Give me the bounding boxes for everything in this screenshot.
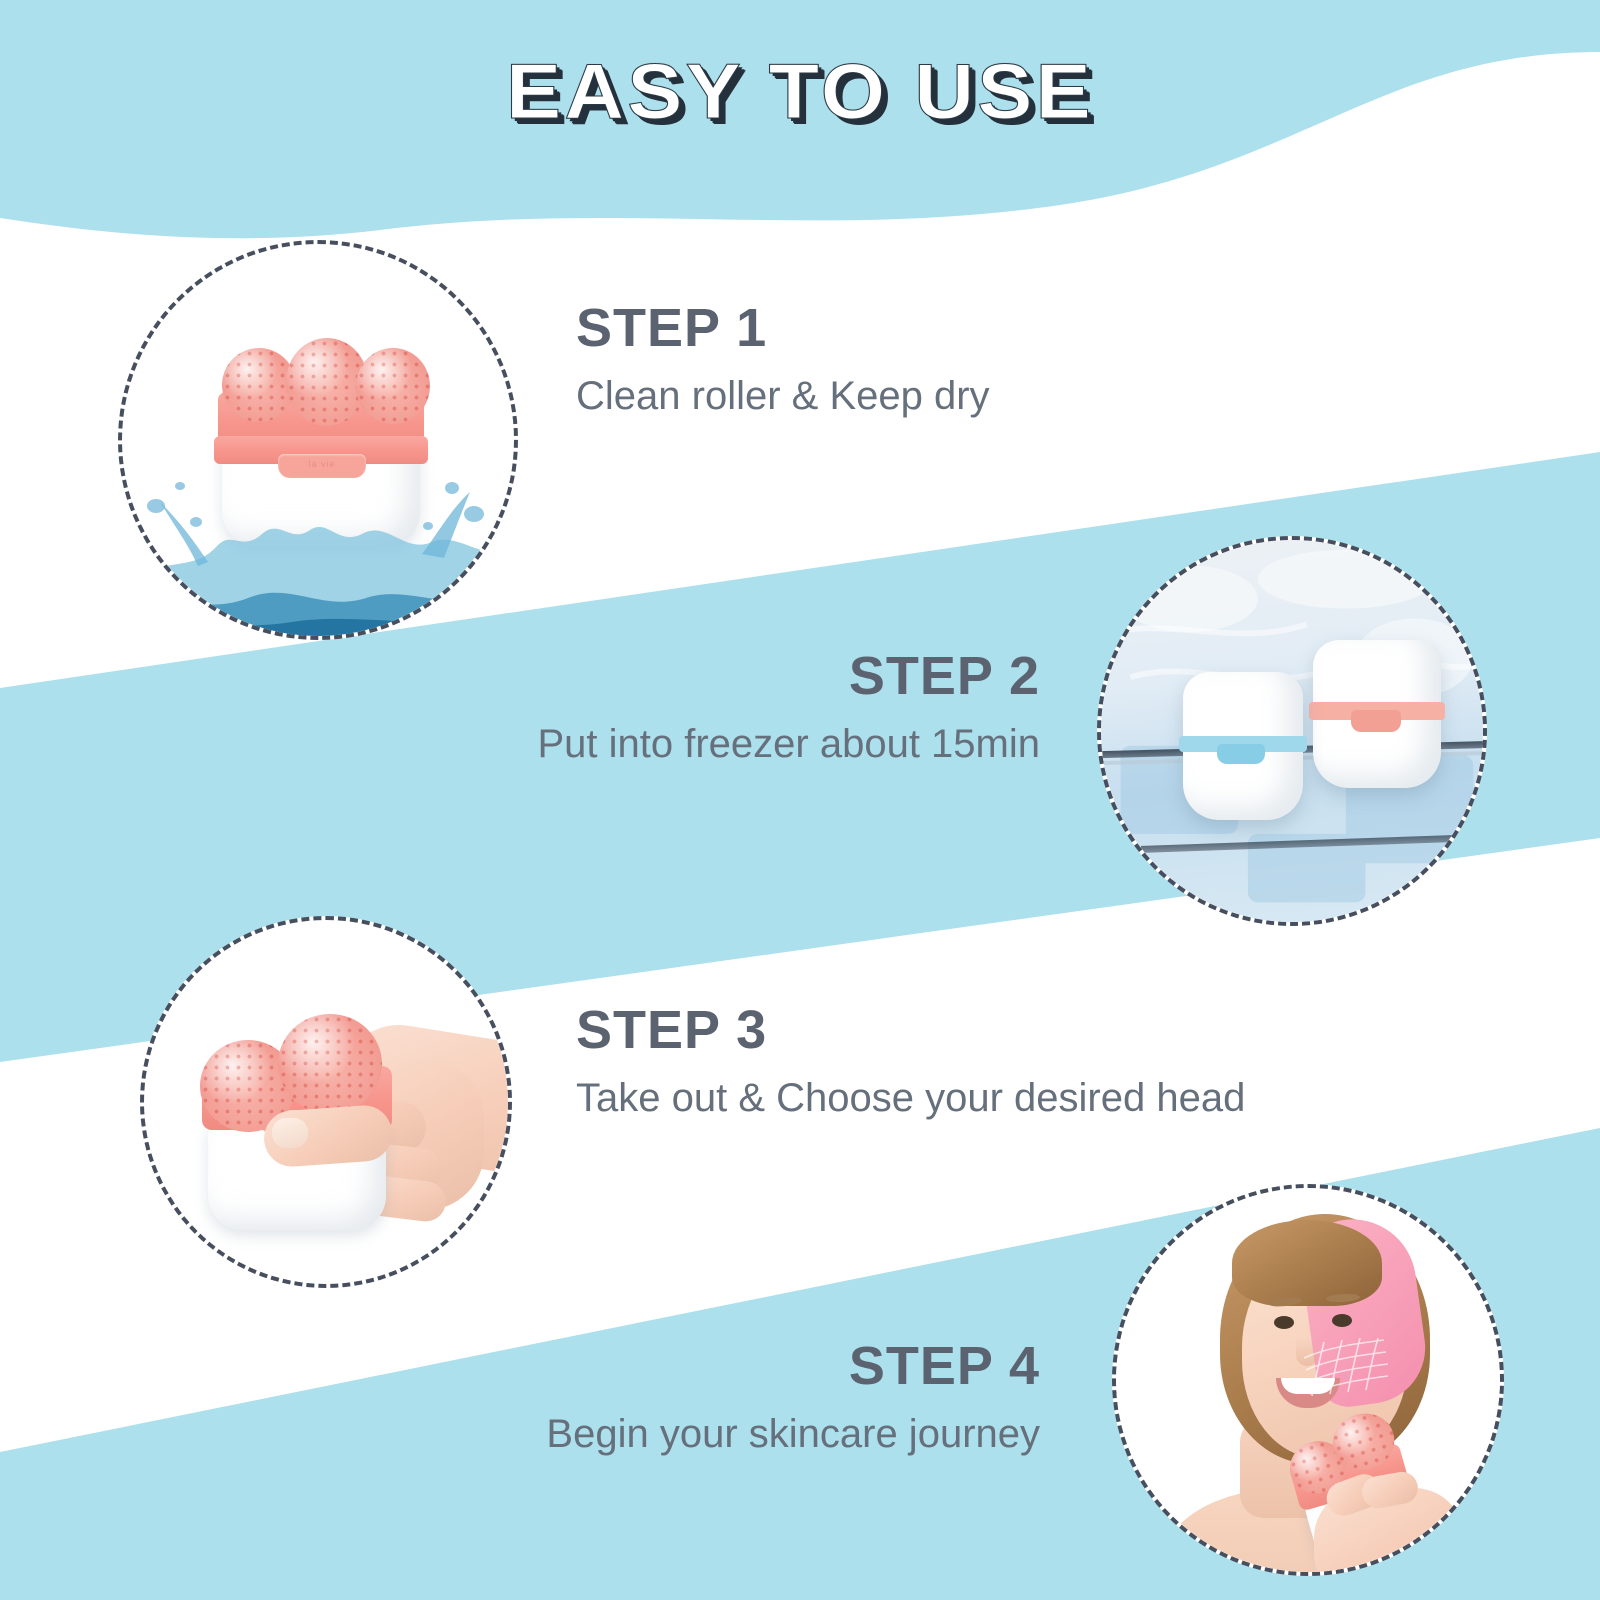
eye-right: [1332, 1314, 1352, 1327]
roller-ball: [356, 348, 430, 424]
roller-ball: [278, 1014, 382, 1114]
infographic-canvas: EASY TO USE la vie: [0, 0, 1600, 1600]
roller-case-pink: [1313, 640, 1441, 788]
step-1-description: Clean roller & Keep dry: [576, 371, 990, 421]
step-3-image: la vie: [140, 916, 512, 1288]
case-tab-pink: [1351, 710, 1401, 732]
hair-front: [1232, 1220, 1382, 1306]
step-1-image: la vie: [118, 240, 518, 640]
eye-left: [1274, 1316, 1294, 1329]
step-3-heading: STEP 3: [576, 1002, 1245, 1059]
step-3-text: STEP 3 Take out & Choose your desired he…: [576, 1002, 1245, 1123]
step-2-description: Put into freezer about 15min: [537, 719, 1040, 769]
thumbnail: [272, 1118, 308, 1148]
roller-case-blue: [1183, 672, 1303, 820]
step-3-description: Take out & Choose your desired head: [576, 1073, 1245, 1123]
step-1-heading: STEP 1: [576, 300, 990, 357]
step-2-heading: STEP 2: [537, 648, 1040, 705]
case-tab-blue: [1217, 744, 1265, 764]
water-splash: [122, 434, 514, 636]
roller-ball: [222, 348, 296, 422]
step-4-image: [1112, 1184, 1504, 1576]
step-2-image: [1097, 536, 1487, 926]
step-2-text: STEP 2 Put into freezer about 15min: [537, 648, 1040, 769]
step-4-heading: STEP 4: [546, 1338, 1040, 1395]
page-title: EASY TO USE: [0, 46, 1600, 137]
step-1-text: STEP 1 Clean roller & Keep dry: [576, 300, 990, 421]
lifting-grid-overlay: [1302, 1338, 1388, 1398]
step-4-text: STEP 4 Begin your skincare journey: [546, 1338, 1040, 1459]
step-4-description: Begin your skincare journey: [546, 1409, 1040, 1459]
